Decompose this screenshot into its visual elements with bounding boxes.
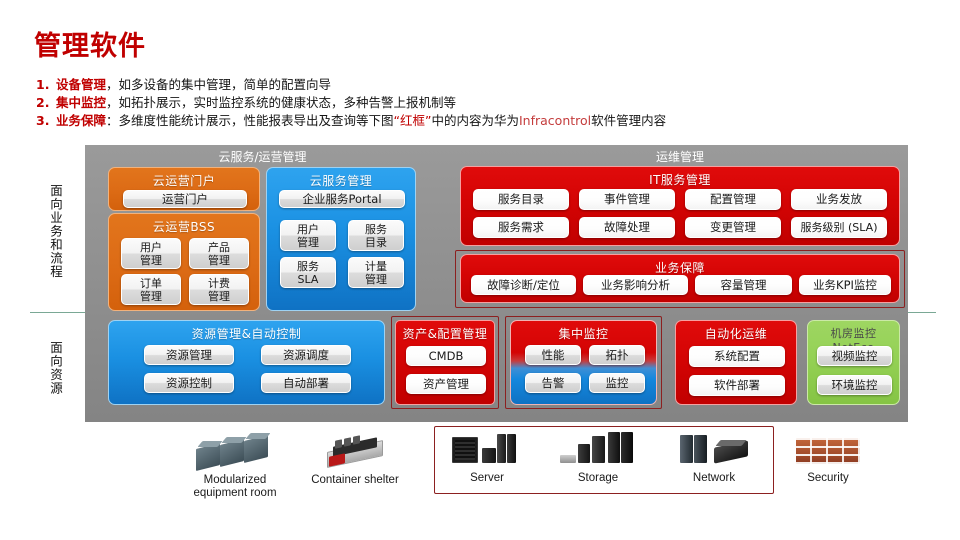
hardware-item-security: Security xyxy=(788,432,868,485)
hardware-caption: Security xyxy=(788,472,868,485)
axis-label-business: 面向业务和流程 xyxy=(47,156,63,306)
resource-mgmt-item-3[interactable]: 自动部署 xyxy=(261,373,351,393)
cloud-bss-item-0[interactable]: 用户 管理 xyxy=(121,238,181,269)
assurance-item-3[interactable]: 业务KPI监控 xyxy=(799,275,891,295)
automation-card[interactable]: 自动化运维 系统配置 软件部署 xyxy=(675,320,797,405)
cloud-bss-item-3[interactable]: 计费 管理 xyxy=(189,274,249,305)
network-icon xyxy=(676,432,752,470)
hardware-caption: Storage xyxy=(556,472,640,485)
list-item: 1. 设备管理，如多设备的集中管理，简单的配置向导 xyxy=(36,76,936,94)
cloud-portal-item-0[interactable]: 运营门户 xyxy=(123,190,247,208)
bullet-number: 1. xyxy=(36,76,56,94)
modular-equipment-room-icon xyxy=(192,432,278,472)
cloud-service-title: 云服务管理 xyxy=(267,168,415,189)
list-item: 3. 业务保障：多维度性能统计展示，性能报表导出及查询等下图“红框”中的内容为华… xyxy=(36,112,936,130)
asset-config-card[interactable]: 资产&配置管理 CMDB 资产管理 xyxy=(395,320,495,405)
cloud-bss-title: 云运营BSS xyxy=(109,214,259,235)
assurance-item-1[interactable]: 业务影响分析 xyxy=(583,275,688,295)
ops-section-title: 运维管理 xyxy=(455,148,905,165)
central-monitor-item-2[interactable]: 告警 xyxy=(525,373,581,393)
hardware-caption: Server xyxy=(448,472,526,485)
bullet-text: ，如多设备的集中管理，简单的配置向导 xyxy=(106,77,331,92)
assurance-title: 业务保障 xyxy=(461,255,899,276)
hardware-caption: Container shelter xyxy=(307,474,403,487)
cloud-section-title: 云服务/运营管理 xyxy=(85,148,440,165)
cloud-bss-item-2[interactable]: 订单 管理 xyxy=(121,274,181,305)
asset-config-title: 资产&配置管理 xyxy=(396,321,494,342)
asset-config-item-1[interactable]: 资产管理 xyxy=(406,374,486,394)
hardware-item-container-shelter: Container shelter xyxy=(307,432,403,487)
central-monitor-item-3[interactable]: 监控 xyxy=(589,373,645,393)
bullet-lead: 设备管理 xyxy=(56,77,106,92)
bullet-lead: 业务保障 xyxy=(56,113,106,128)
hardware-item-network: Network xyxy=(672,432,756,485)
resource-mgmt-item-2[interactable]: 资源控制 xyxy=(144,373,234,393)
bullet-text: ，如拓扑展示，实时监控系统的健康状态，多种告警上报机制等 xyxy=(106,95,456,110)
cloud-portal-card[interactable]: 云运营门户 运营门户 xyxy=(108,167,260,211)
bullet-text: 软件管理内容 xyxy=(591,113,666,128)
resource-mgmt-item-1[interactable]: 资源调度 xyxy=(261,345,351,365)
itsm-item-1[interactable]: 事件管理 xyxy=(579,189,675,210)
axis-label-resource: 面向资源 xyxy=(47,328,63,408)
bullet-brand: Infracontrol xyxy=(519,113,591,128)
itsm-title: IT服务管理 xyxy=(461,167,899,188)
hardware-item-modular-room: Modularized equipment room xyxy=(176,432,294,500)
central-monitor-item-0[interactable]: 性能 xyxy=(525,345,581,365)
itsm-item-2[interactable]: 配置管理 xyxy=(685,189,781,210)
neteco-item-0[interactable]: 视频监控 xyxy=(817,346,892,366)
assurance-item-2[interactable]: 容量管理 xyxy=(695,275,792,295)
assurance-item-0[interactable]: 故障诊断/定位 xyxy=(471,275,576,295)
security-firewall-icon xyxy=(792,432,864,470)
neteco-card[interactable]: 机房监控 NetEco 视频监控 环境监控 xyxy=(807,320,900,405)
list-item: 2. 集中监控，如拓扑展示，实时监控系统的健康状态，多种告警上报机制等 xyxy=(36,94,936,112)
architecture-panel: 云服务/运营管理 云运营门户 运营门户 云运营BSS 用户 管理 产品 管理 订… xyxy=(85,145,908,422)
itsm-card[interactable]: IT服务管理 服务目录 事件管理 配置管理 业务发放 服务需求 故障处理 变更管… xyxy=(460,166,900,246)
cloud-service-portal-item[interactable]: 企业服务Portal xyxy=(279,190,405,208)
central-monitor-item-1[interactable]: 拓扑 xyxy=(589,345,645,365)
itsm-item-4[interactable]: 服务需求 xyxy=(473,217,569,238)
resource-mgmt-card[interactable]: 资源管理&自动控制 资源管理 资源调度 资源控制 自动部署 xyxy=(108,320,385,405)
bullet-number: 3. xyxy=(36,112,56,130)
central-monitor-title: 集中监控 xyxy=(511,321,656,342)
resource-mgmt-title: 资源管理&自动控制 xyxy=(109,321,384,342)
itsm-item-0[interactable]: 服务目录 xyxy=(473,189,569,210)
bullet-highlight: “红框” xyxy=(394,113,432,128)
hardware-caption: Network xyxy=(672,472,756,485)
cloud-service-item-0[interactable]: 用户 管理 xyxy=(280,220,336,251)
server-icon xyxy=(452,432,522,470)
bullet-list: 1. 设备管理，如多设备的集中管理，简单的配置向导 2. 集中监控，如拓扑展示，… xyxy=(36,76,936,130)
bullet-lead: 集中监控 xyxy=(56,95,106,110)
cloud-portal-title: 云运营门户 xyxy=(109,168,259,189)
cloud-service-card[interactable]: 云服务管理 企业服务Portal 用户 管理 服务 目录 服务 SLA 计量 管… xyxy=(266,167,416,311)
cloud-service-item-1[interactable]: 服务 目录 xyxy=(348,220,404,251)
automation-item-1[interactable]: 软件部署 xyxy=(689,375,785,396)
cloud-service-item-2[interactable]: 服务 SLA xyxy=(280,257,336,288)
container-shelter-icon xyxy=(321,432,389,472)
storage-icon xyxy=(560,432,636,470)
itsm-item-6[interactable]: 变更管理 xyxy=(685,217,781,238)
asset-config-item-0[interactable]: CMDB xyxy=(406,346,486,366)
itsm-item-3[interactable]: 业务发放 xyxy=(791,189,887,210)
page-title: 管理软件 xyxy=(34,24,146,63)
hardware-caption: Modularized equipment room xyxy=(176,474,294,500)
automation-item-0[interactable]: 系统配置 xyxy=(689,346,785,367)
cloud-bss-card[interactable]: 云运营BSS 用户 管理 产品 管理 订单 管理 计费 管理 xyxy=(108,213,260,311)
slide-root: 管理软件 1. 设备管理，如多设备的集中管理，简单的配置向导 2. 集中监控，如… xyxy=(0,0,960,540)
itsm-item-7[interactable]: 服务级别 (SLA) xyxy=(791,217,887,238)
resource-mgmt-item-0[interactable]: 资源管理 xyxy=(144,345,234,365)
cloud-bss-item-1[interactable]: 产品 管理 xyxy=(189,238,249,269)
neteco-item-1[interactable]: 环境监控 xyxy=(817,375,892,395)
automation-title: 自动化运维 xyxy=(676,321,796,342)
bullet-text: ：多维度性能统计展示，性能报表导出及查询等下图 xyxy=(106,113,394,128)
bullet-text: 中的内容为华为 xyxy=(431,113,519,128)
itsm-item-5[interactable]: 故障处理 xyxy=(579,217,675,238)
cloud-service-item-3[interactable]: 计量 管理 xyxy=(348,257,404,288)
assurance-card[interactable]: 业务保障 故障诊断/定位 业务影响分析 容量管理 业务KPI监控 xyxy=(460,254,900,303)
bullet-number: 2. xyxy=(36,94,56,112)
hardware-item-storage: Storage xyxy=(556,432,640,485)
central-monitor-card[interactable]: 集中监控 性能 拓扑 告警 监控 xyxy=(510,320,657,405)
hardware-item-server: Server xyxy=(448,432,526,485)
